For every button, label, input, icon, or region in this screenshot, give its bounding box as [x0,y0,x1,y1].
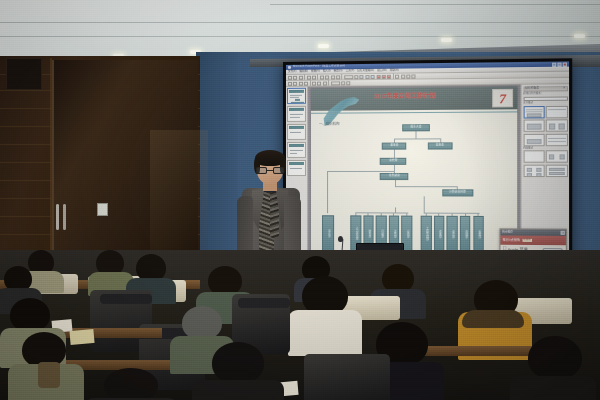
zoom-combo[interactable] [406,74,410,78]
toolbar-separator [328,81,329,86]
style-combo[interactable] [331,81,340,85]
align-center-icon[interactable] [382,74,386,78]
downlight-icon [441,38,452,42]
transition-icon[interactable] [347,81,351,85]
task-pane-search-label: 应用幻灯片版式： [523,93,567,96]
minimize-button[interactable] [552,62,556,66]
downlight-icon [318,44,329,48]
demote-icon[interactable] [323,81,327,85]
menu-view[interactable]: 视图(V) [311,70,320,73]
downlight-icon [574,34,585,38]
menu-tools[interactable]: 工具(T) [346,70,355,73]
glass-reflection [150,130,208,250]
layout-thumbnail[interactable] [523,120,544,132]
audience-member [510,336,596,400]
new-icon[interactable] [288,75,292,79]
org-leaf-node: 客服部 [473,216,484,253]
menu-slideshow[interactable]: 幻灯片放映(D) [357,70,374,73]
bold-icon[interactable] [360,75,364,79]
org-leaf-node: 设计部 [447,216,458,253]
spellcheck-icon[interactable] [320,75,324,79]
layout-thumbnail[interactable] [546,120,567,132]
underline-icon[interactable] [371,74,375,78]
copy-icon[interactable] [331,75,335,79]
company-logo-icon: 7 [492,89,513,108]
print-icon[interactable] [307,75,311,79]
chair-armrest [238,298,290,308]
org-leaf-node: 工程管理部 [421,216,432,253]
chair-armrest [100,294,152,304]
paste-icon[interactable] [336,75,340,79]
toolbar-separator [393,74,394,79]
org-leaf-node: 审计部 [322,215,334,251]
layout-thumbnail[interactable] [546,150,567,162]
toolbar-separator [310,81,311,86]
layout-thumbnail[interactable] [523,164,544,176]
decrease-font-icon[interactable] [304,81,308,85]
slide-thumbnail[interactable] [287,88,306,104]
org-node: 常务副总 [380,173,409,180]
toolbar-separator [341,74,342,79]
org-node: 分管副总经理 [442,189,473,196]
layout-thumbnail[interactable] [546,133,567,145]
italic-icon[interactable] [365,75,369,79]
slide-canvas[interactable]: 2017年度公司工作计划 7 一、组织机构 股东大会 [308,85,520,278]
task-pane-title: 幻灯片版式 [525,88,539,91]
chair-back[interactable] [304,354,390,400]
conference-room-photo: Microsoft PowerPoint - [年度工作计划.ppt] 文件(F… [0,0,600,400]
app-icon [288,66,291,69]
ad-close-icon[interactable]: ✕ [560,231,564,235]
cut-icon[interactable] [325,75,329,79]
help-icon[interactable] [412,74,416,78]
shadow-icon[interactable] [312,81,316,85]
slide-design-icon[interactable] [293,81,297,85]
menu-help[interactable]: 帮助(H) [390,69,399,72]
window-title: Microsoft PowerPoint - [年度工作计划.ppt] [293,65,345,68]
audience-member [288,276,362,352]
task-pane-close-icon[interactable]: ✕ [563,87,565,90]
slide-title: 2017年度公司工作计划 [374,94,435,101]
ad-popup-title: 热点推荐 [502,231,513,234]
layout-thumbnail[interactable] [523,134,544,146]
toolbar-separator [317,75,318,80]
org-node: 董事会 [382,143,407,150]
slide-thumbnail[interactable] [287,106,306,122]
task-pane-group-text-layouts: 文字版式 [523,102,567,105]
menu-format[interactable]: 格式(O) [334,70,343,73]
task-pane-group-content-layouts: 内容版式 [523,147,567,150]
menu-window[interactable]: 窗口(W) [377,69,387,72]
close-button[interactable] [563,62,567,66]
audience-member [192,342,284,400]
animation-icon[interactable] [341,81,345,85]
open-icon[interactable] [293,75,297,79]
menu-file[interactable]: 文件(F) [288,71,296,74]
slide-thumbnail[interactable] [287,124,306,140]
promote-icon[interactable] [317,81,321,85]
microphone-icon [338,236,343,242]
new-slide-icon[interactable] [288,81,292,85]
audience-area [0,250,600,400]
ad-badge: 限量抢 [522,239,532,242]
layout-thumbnail[interactable] [546,106,567,119]
org-node: 总经理 [380,158,407,165]
org-leaf-node: 成本部 [434,216,445,253]
org-leaf-node: 营销部 [460,216,471,253]
glass-door[interactable] [52,60,198,272]
menu-insert[interactable]: 插入(I) [323,70,331,73]
org-node: 监事会 [427,142,452,149]
eyeglasses-icon [256,167,284,174]
layout-thumbnail[interactable] [523,106,544,118]
light-switch[interactable] [97,203,108,216]
align-left-icon[interactable] [376,74,380,78]
maximize-button[interactable] [557,62,561,66]
increase-font-icon[interactable] [299,81,303,85]
audience-member [8,332,84,400]
door-handle[interactable] [56,204,59,230]
menu-edit[interactable]: 编辑(E) [299,70,308,73]
align-right-icon[interactable] [387,74,391,78]
org-node: 股东大会 [403,124,430,131]
toolbar-separator [304,75,305,80]
font-name-combo[interactable] [344,75,353,79]
bullets-icon[interactable] [395,74,399,78]
audience-member [84,368,178,400]
layout-thumbnail[interactable] [523,151,544,163]
font-size-combo[interactable] [354,75,358,79]
numbering-icon[interactable] [401,74,405,78]
save-icon[interactable] [299,75,303,79]
ad-band-text: 每日0点抢购 [503,239,520,242]
layout-thumbnail[interactable] [546,164,567,176]
wall-speaker [6,58,42,90]
door-handle[interactable] [63,204,66,230]
preview-icon[interactable] [312,75,316,79]
